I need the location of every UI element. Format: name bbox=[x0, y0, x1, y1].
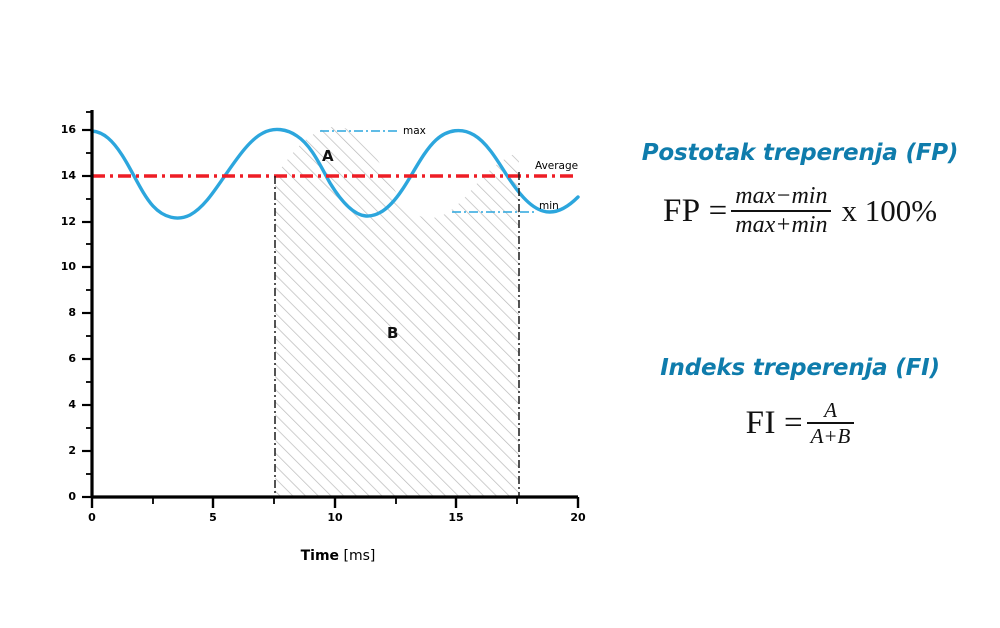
x-tick-10: 10 bbox=[323, 511, 347, 524]
y-tick-8: 8 bbox=[52, 306, 76, 319]
y-tick-10: 10 bbox=[52, 260, 76, 273]
fi-denominator: A+B bbox=[807, 424, 855, 447]
y-tick-12: 12 bbox=[52, 215, 76, 228]
fp-equals: = bbox=[709, 193, 728, 230]
y-tick-16: 16 bbox=[52, 123, 76, 136]
max-label: max bbox=[403, 125, 426, 137]
x-axis-title-name: Time bbox=[301, 548, 339, 564]
x-axis-title: Time [ms] bbox=[248, 548, 428, 564]
min-label: min bbox=[539, 200, 559, 212]
flicker-percent-formula: FP = max−min max+min x 100% bbox=[600, 184, 1000, 238]
fi-numerator: A bbox=[820, 399, 841, 422]
x-tick-5: 5 bbox=[201, 511, 225, 524]
fp-denominator: max+min bbox=[731, 212, 831, 238]
flicker-index-block: Indeks treperenja (FI) FI = A A+B bbox=[600, 355, 1000, 447]
y-tick-14: 14 bbox=[52, 169, 76, 182]
flicker-percent-block: Postotak treperenja (FP) FP = max−min ma… bbox=[600, 140, 1000, 238]
average-label: Average bbox=[535, 160, 578, 172]
flicker-percent-heading: Postotak treperenja (FP) bbox=[600, 140, 1000, 166]
fp-fraction: max−min max+min bbox=[731, 184, 831, 238]
fp-lhs: FP bbox=[663, 193, 701, 230]
y-axis bbox=[82, 110, 92, 497]
y-tick-2: 2 bbox=[52, 444, 76, 457]
x-axis bbox=[92, 497, 578, 508]
fp-tail: x 100% bbox=[841, 193, 937, 229]
fi-equals: = bbox=[784, 405, 803, 442]
x-tick-15: 15 bbox=[444, 511, 468, 524]
fp-numerator: max−min bbox=[731, 184, 831, 210]
flicker-index-heading: Indeks treperenja (FI) bbox=[600, 355, 1000, 381]
flicker-index-formula: FI = A A+B bbox=[600, 399, 1000, 447]
formula-panel: Postotak treperenja (FP) FP = max−min ma… bbox=[600, 140, 1000, 480]
region-label-b: B bbox=[387, 324, 398, 342]
fi-lhs: FI bbox=[746, 405, 776, 442]
fi-fraction: A A+B bbox=[807, 399, 855, 447]
region-label-a: A bbox=[322, 147, 334, 165]
x-tick-20: 20 bbox=[566, 511, 590, 524]
x-axis-title-unit: [ms] bbox=[344, 548, 376, 564]
y-tick-6: 6 bbox=[52, 352, 76, 365]
x-tick-0: 0 bbox=[80, 511, 104, 524]
y-tick-4: 4 bbox=[52, 398, 76, 411]
shaded-region bbox=[275, 127, 519, 497]
y-tick-0: 0 bbox=[52, 490, 76, 503]
